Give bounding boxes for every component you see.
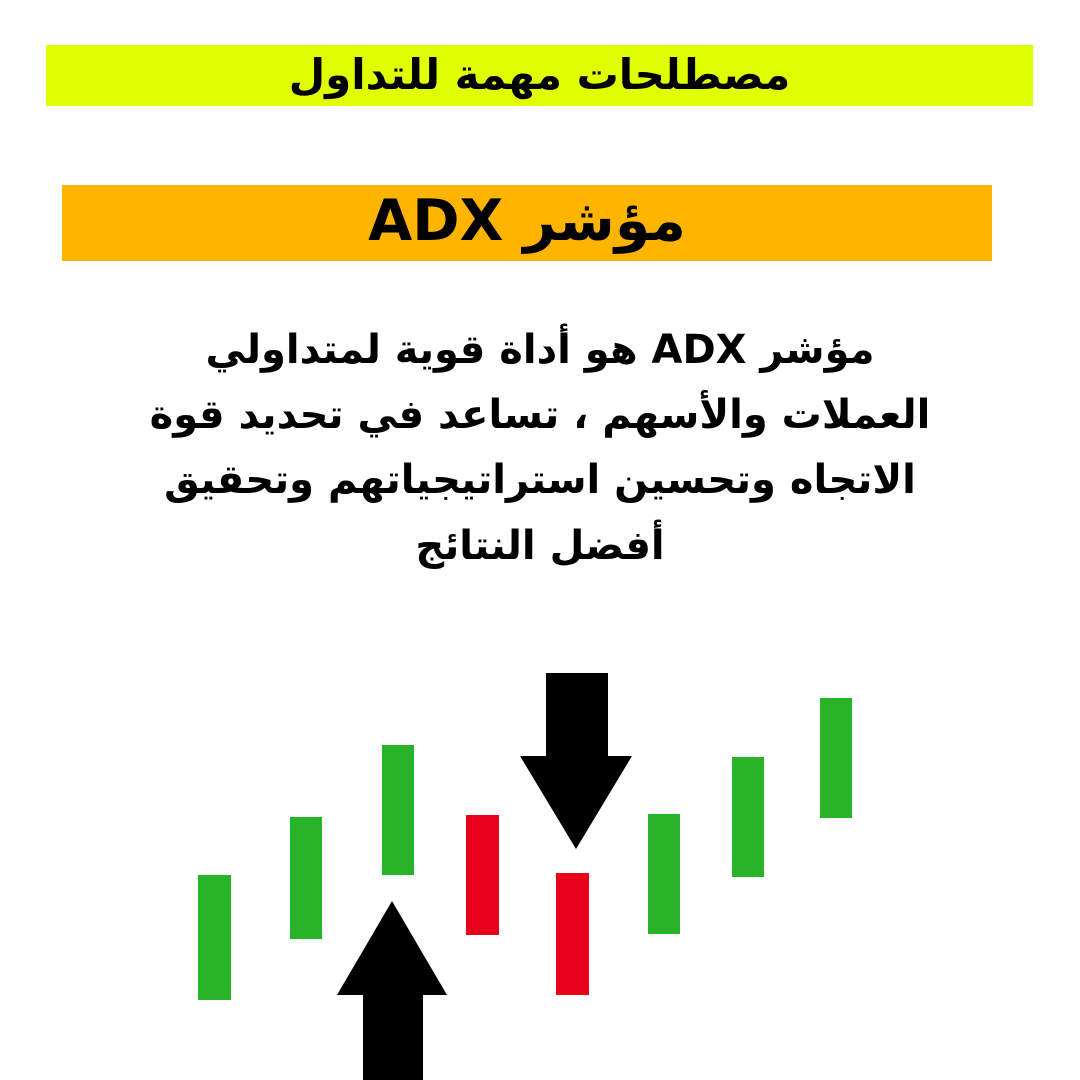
body-paragraph: مؤشر ADX هو أداة قوية لمتداولي العملات و… — [90, 318, 990, 579]
candlestick-chart — [0, 655, 1080, 1080]
headline-banner: مصطلحات مهمة للتداول — [46, 45, 1033, 106]
down-arrow-icon — [520, 673, 632, 849]
chart-arrows-layer — [0, 655, 1080, 1080]
headline-text: مصطلحات مهمة للتداول — [289, 54, 791, 96]
body-line-1: مؤشر ADX هو أداة قوية لمتداولي — [90, 318, 990, 383]
up-arrow-icon — [337, 901, 447, 1080]
body-line-4: أفضل النتائج — [90, 514, 990, 579]
body-line-2: العملات والأسهم ، تساعد في تحديد قوة — [90, 383, 990, 448]
infographic-page: مصطلحات مهمة للتداول مؤشر ADX مؤشر ADX ه… — [0, 0, 1080, 1080]
title-banner: مؤشر ADX — [62, 185, 992, 261]
body-line-3: الاتجاه وتحسين استراتيجياتهم وتحقيق — [90, 448, 990, 513]
title-text: مؤشر ADX — [368, 193, 686, 250]
